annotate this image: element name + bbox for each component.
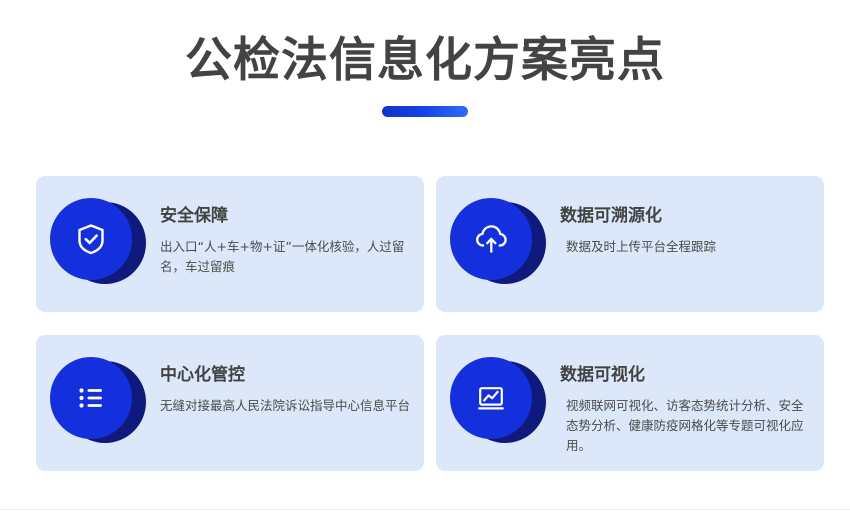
- feature-card-security[interactable]: 安全保障 出入口“人+车+物+证”一体化核验，人过留名，车过留痕: [36, 176, 424, 312]
- icon-container: [50, 198, 142, 290]
- shield-check-icon: [71, 219, 111, 259]
- bottom-divider: [0, 509, 850, 510]
- card-text-block: 数据可视化 视频联网可视化、访客态势统计分析、安全态势分析、健康防疫网格化等专题…: [560, 366, 824, 456]
- card-text-block: 数据可溯源化 数据及时上传平台全程跟踪: [560, 207, 726, 257]
- icon-badge: [50, 357, 132, 439]
- page-title: 公检法信息化方案亮点: [0, 34, 850, 88]
- card-title: 数据可溯源化: [560, 207, 716, 226]
- card-description: 无缝对接最高人民法院诉讼指导中心信息平台: [160, 396, 410, 416]
- card-description: 出入口“人+车+物+证”一体化核验，人过留名，车过留痕: [160, 237, 410, 278]
- icon-badge: [450, 198, 532, 280]
- icon-badge: [450, 357, 532, 439]
- card-description: 数据及时上传平台全程跟踪: [560, 237, 716, 257]
- icon-badge: [50, 198, 132, 280]
- icon-container: [50, 357, 142, 449]
- card-text-block: 安全保障 出入口“人+车+物+证”一体化核验，人过留名，车过留痕: [160, 207, 420, 277]
- title-accent-bar: [382, 106, 468, 117]
- card-description: 视频联网可视化、访客态势统计分析、安全态势分析、健康防疫网格化等专题可视化应用。: [560, 396, 814, 457]
- feature-card-centralized-control[interactable]: 中心化管控 无缝对接最高人民法院诉讼指导中心信息平台: [36, 335, 424, 471]
- feature-card-traceability[interactable]: 数据可溯源化 数据及时上传平台全程跟踪: [436, 176, 824, 312]
- card-title: 数据可视化: [560, 366, 814, 385]
- card-title: 中心化管控: [160, 366, 410, 385]
- list-icon: [71, 378, 111, 418]
- icon-container: [450, 198, 542, 290]
- page-header: 公检法信息化方案亮点: [0, 0, 850, 117]
- card-text-block: 中心化管控 无缝对接最高人民法院诉讼指导中心信息平台: [160, 366, 420, 416]
- feature-card-grid: 安全保障 出入口“人+车+物+证”一体化核验，人过留名，车过留痕: [36, 176, 814, 471]
- chart-monitor-icon: [471, 378, 511, 418]
- card-title: 安全保障: [160, 207, 410, 226]
- page-root: 公检法信息化方案亮点 安全保障 出入口“人+车+物+证”一体化核验，人: [0, 0, 850, 516]
- icon-container: [450, 357, 542, 449]
- cloud-upload-icon: [470, 218, 512, 260]
- feature-card-visualization[interactable]: 数据可视化 视频联网可视化、访客态势统计分析、安全态势分析、健康防疫网格化等专题…: [436, 335, 824, 471]
